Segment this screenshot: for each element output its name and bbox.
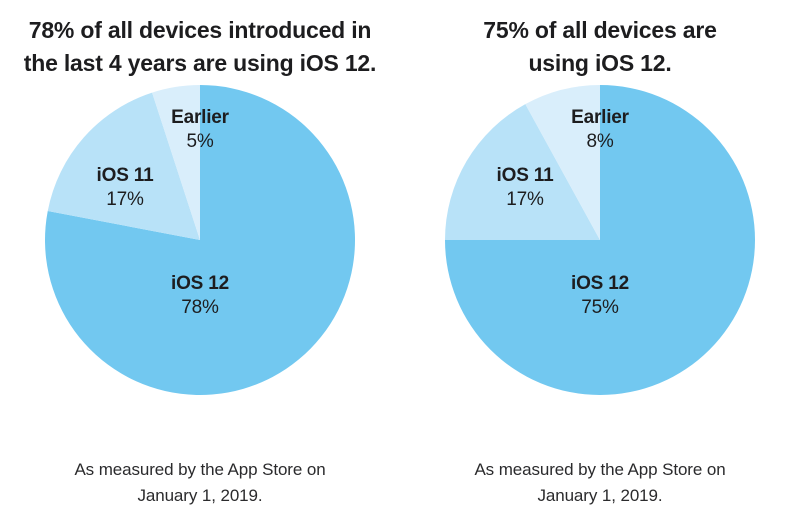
page-title-left: 78% of all devices introduced in the las… (20, 14, 380, 79)
infographic-root: 78% of all devices introduced in the las… (0, 0, 800, 528)
chart-caption-right: As measured by the App Store on January … (400, 457, 800, 508)
pie-svg-left (0, 85, 400, 415)
chart-panel-right: 75% of all devices are using iOS 12. Ear… (400, 0, 800, 528)
pie-svg-right (400, 85, 800, 415)
pie-slices-left (45, 85, 355, 395)
pie-slices-right (445, 85, 755, 395)
chart-caption-left: As measured by the App Store on January … (0, 457, 400, 508)
pie-chart-right: Earlier 8% iOS 11 17% iOS 12 75% (400, 85, 800, 415)
chart-panel-left: 78% of all devices introduced in the las… (0, 0, 400, 528)
pie-chart-left: Earlier 5% iOS 11 17% iOS 12 78% (0, 85, 400, 415)
page-title-right: 75% of all devices are using iOS 12. (420, 14, 780, 79)
